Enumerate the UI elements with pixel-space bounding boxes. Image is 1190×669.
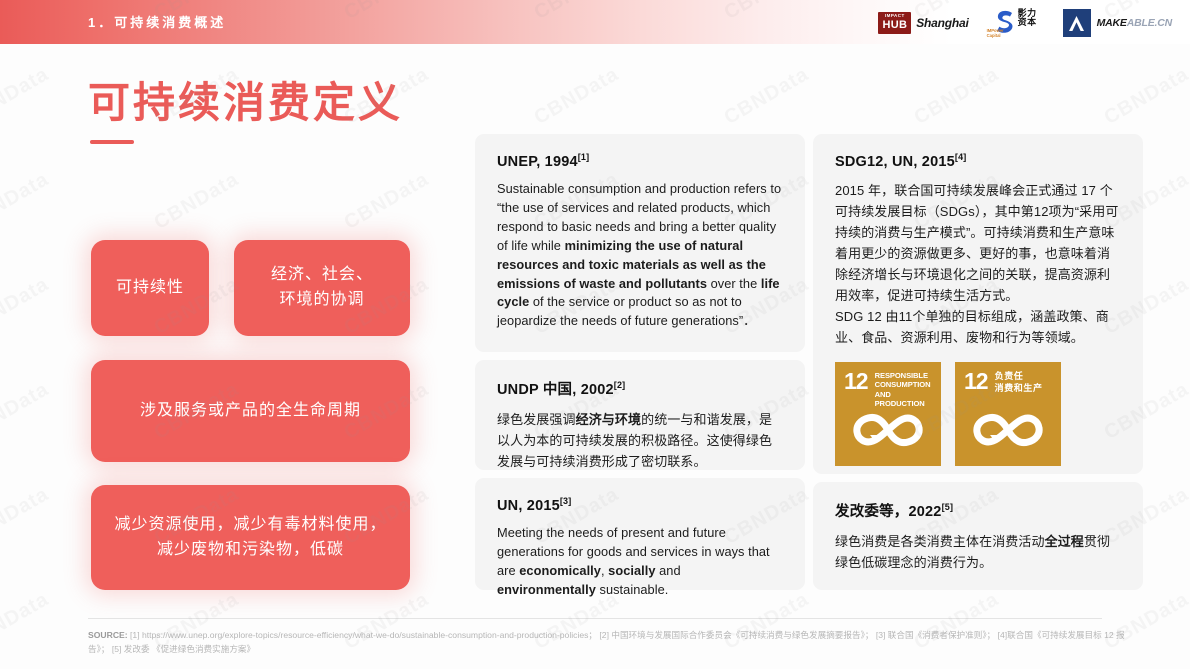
source-text: [1] https://www.unep.org/explore-topics/…: [88, 630, 1125, 654]
sdg-badge-en-label: RESPONSIBLECONSUMPTIONAND PRODUCTION: [875, 371, 941, 408]
sdg-badge-zh-number: 12: [964, 371, 988, 392]
source-note: SOURCE: [1] https://www.unep.org/explore…: [88, 628, 1128, 656]
makeable-logo: MAKEABLE.CN: [1063, 9, 1172, 37]
definition-card-ndrc: 发改委等，2022[5] 绿色消费是各类消费主体在消费活动全过程贯彻绿色低碳理念…: [813, 482, 1143, 590]
card-body-unep: Sustainable consumption and production r…: [497, 180, 783, 332]
sdg-badge-zh: 12 负责任消费和生产: [955, 362, 1061, 466]
slide-root: 1．可持续消费概述 IMPACT HUB Shanghai IMPowerCap…: [0, 0, 1190, 669]
section-label: 1．可持续消费概述: [88, 12, 226, 31]
definition-card-undp: UNDP 中国, 2002[2] 绿色发展强调经济与环境的统一与和谐发展，是以人…: [475, 360, 805, 470]
impower-capital-logo: IMPowerCapital 影力 资本: [995, 9, 1037, 37]
card-heading-ndrc: 发改委等，2022[5]: [835, 500, 1121, 521]
makeable-wordmark: MAKEABLE.CN: [1097, 17, 1172, 29]
logo-group: IMPACT HUB Shanghai IMPowerCapital 影力 资本: [878, 9, 1172, 37]
impower-s-icon: IMPowerCapital: [995, 9, 1015, 37]
sdg-badge-row: 12 RESPONSIBLECONSUMPTIONAND PRODUCTION …: [835, 362, 1121, 466]
impower-sub-text: IMPowerCapital: [987, 29, 1004, 39]
source-label: SOURCE:: [88, 630, 128, 640]
keypoint-card-reduce: 减少资源使用，减少有毒材料使用，减少废物和污染物，低碳: [91, 485, 410, 590]
card-body-ndrc: 绿色消费是各类消费主体在消费活动全过程贯彻绿色低碳理念的消费行为。: [835, 531, 1121, 573]
definition-card-un: UN, 2015[3] Meeting the needs of present…: [475, 478, 805, 590]
card-heading-undp: UNDP 中国, 2002[2]: [497, 378, 783, 399]
impact-hub-mark: IMPACT HUB: [878, 12, 911, 34]
keypoint-card-coordination: 经济、社会、环境的协调: [234, 240, 410, 336]
impact-hub-mark-bottom: HUB: [882, 20, 907, 31]
card-body-undp: 绿色发展强调经济与环境的统一与和谐发展，是以人为本的可持续发展的积极路径。这使得…: [497, 409, 783, 472]
card-heading-unep: UNEP, 1994[1]: [497, 152, 783, 170]
card-body-un: Meeting the needs of present and future …: [497, 524, 783, 600]
card-heading-un: UN, 2015[3]: [497, 496, 783, 514]
definition-card-sdg12: SDG12, UN, 2015[4] 2015 年，联合国可持续发展峰会正式通过…: [813, 134, 1143, 474]
definition-card-unep: UNEP, 1994[1] Sustainable consumption an…: [475, 134, 805, 352]
sdg-badge-zh-label: 负责任消费和生产: [995, 371, 1043, 394]
card-heading-sdg12: SDG12, UN, 2015[4]: [835, 152, 1121, 170]
impact-hub-shanghai-logo: IMPACT HUB Shanghai: [878, 12, 968, 34]
makeable-triangle-icon: [1063, 9, 1091, 37]
impact-hub-wordmark: Shanghai: [916, 16, 968, 30]
title-underline: [90, 140, 134, 144]
impower-cn-wordmark: 影力 资本: [1018, 9, 1037, 28]
keypoint-card-sustainability: 可持续性: [91, 240, 209, 336]
sdg-badge-en: 12 RESPONSIBLECONSUMPTIONAND PRODUCTION: [835, 362, 941, 466]
infinity-icon: [972, 410, 1044, 455]
page-title: 可持续消费定义: [88, 69, 403, 130]
infinity-icon: [852, 410, 924, 455]
keypoint-card-lifecycle: 涉及服务或产品的全生命周期: [91, 360, 410, 462]
sdg-badge-en-number: 12: [844, 371, 868, 392]
card-body-sdg12: 2015 年，联合国可持续发展峰会正式通过 17 个可持续发展目标（SDGs），…: [835, 180, 1121, 348]
source-divider: [88, 618, 1102, 619]
